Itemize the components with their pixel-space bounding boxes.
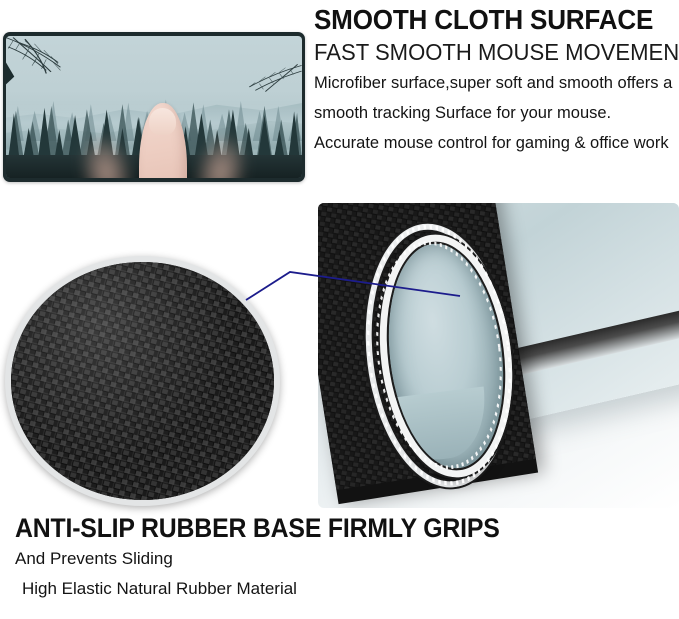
bottom-line-2: High Elastic Natural Rubber Material: [15, 574, 655, 604]
bottom-text-block: ANTI-SLIP RUBBER BASE FIRMLY GRIPS And P…: [15, 512, 655, 604]
mousepad-photo: [3, 32, 305, 182]
top-subheading: FAST SMOOTH MOUSE MOVEMENT: [314, 39, 664, 66]
rolled-mousepad-photo: [318, 203, 679, 508]
top-heading: SMOOTH CLOTH SURFACE: [314, 4, 653, 35]
bottom-line-1: And Prevents Sliding: [15, 544, 655, 574]
mousepad-print-area: [6, 36, 302, 178]
top-body-copy: Microfiber surface,super soft and smooth…: [314, 68, 674, 158]
top-text-block: SMOOTH CLOTH SURFACE FAST SMOOTH MOUSE M…: [314, 0, 679, 158]
bottom-heading: ANTI-SLIP RUBBER BASE FIRMLY GRIPS: [15, 512, 604, 544]
product-infographic: SMOOTH CLOTH SURFACE FAST SMOOTH MOUSE M…: [0, 0, 679, 619]
circle-highlight: [11, 262, 274, 500]
rubber-base-closeup-circle: [5, 256, 280, 506]
hand-on-mouse: [113, 101, 214, 178]
hand: [139, 103, 187, 178]
